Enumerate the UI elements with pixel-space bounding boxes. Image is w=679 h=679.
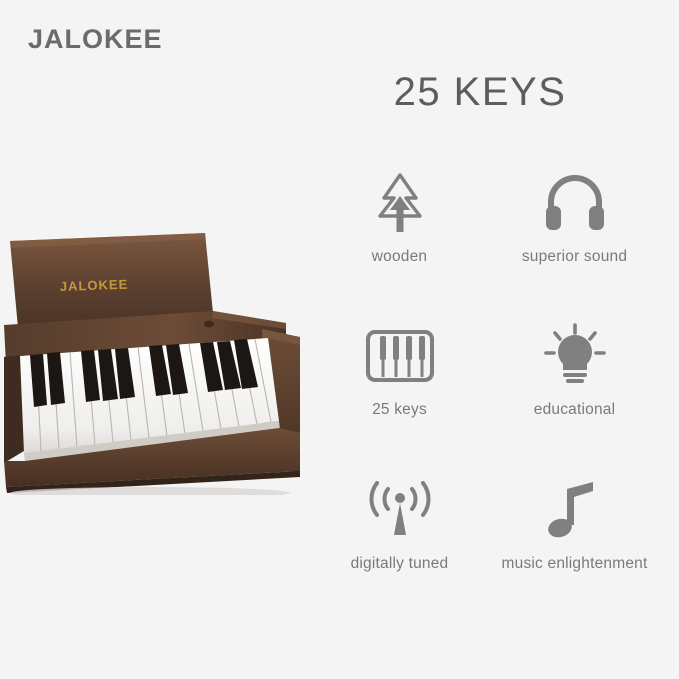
feature-wooden: wooden (312, 160, 487, 313)
broadcast-signal-icon (364, 473, 436, 547)
feature-educational: educational (487, 313, 662, 466)
lightbulb-icon (542, 319, 608, 393)
feature-music-enlightenment: music enlightenment (487, 467, 662, 620)
feature-label: educational (534, 401, 616, 419)
headphones-icon (543, 166, 607, 240)
brand-wordmark: JALOKEE (28, 24, 163, 55)
feature-label: 25 keys (372, 401, 427, 419)
page-title: 25 KEYS (330, 70, 630, 115)
feature-25-keys: 25 keys (312, 313, 487, 466)
feature-grid: wooden superior sound (312, 160, 662, 620)
music-note-icon (547, 473, 603, 547)
piano-keys-icon (365, 319, 435, 393)
feature-label: wooden (372, 248, 428, 266)
product-image: JALOKEE (0, 225, 310, 495)
feature-label: music enlightenment (502, 555, 648, 573)
feature-digitally-tuned: digitally tuned (312, 467, 487, 620)
pine-tree-icon (370, 166, 430, 240)
svg-text:JALOKEE: JALOKEE (60, 277, 129, 294)
feature-superior-sound: superior sound (487, 160, 662, 313)
feature-label: digitally tuned (351, 555, 449, 573)
piano-illustration: JALOKEE (0, 225, 310, 495)
feature-label: superior sound (522, 248, 627, 266)
